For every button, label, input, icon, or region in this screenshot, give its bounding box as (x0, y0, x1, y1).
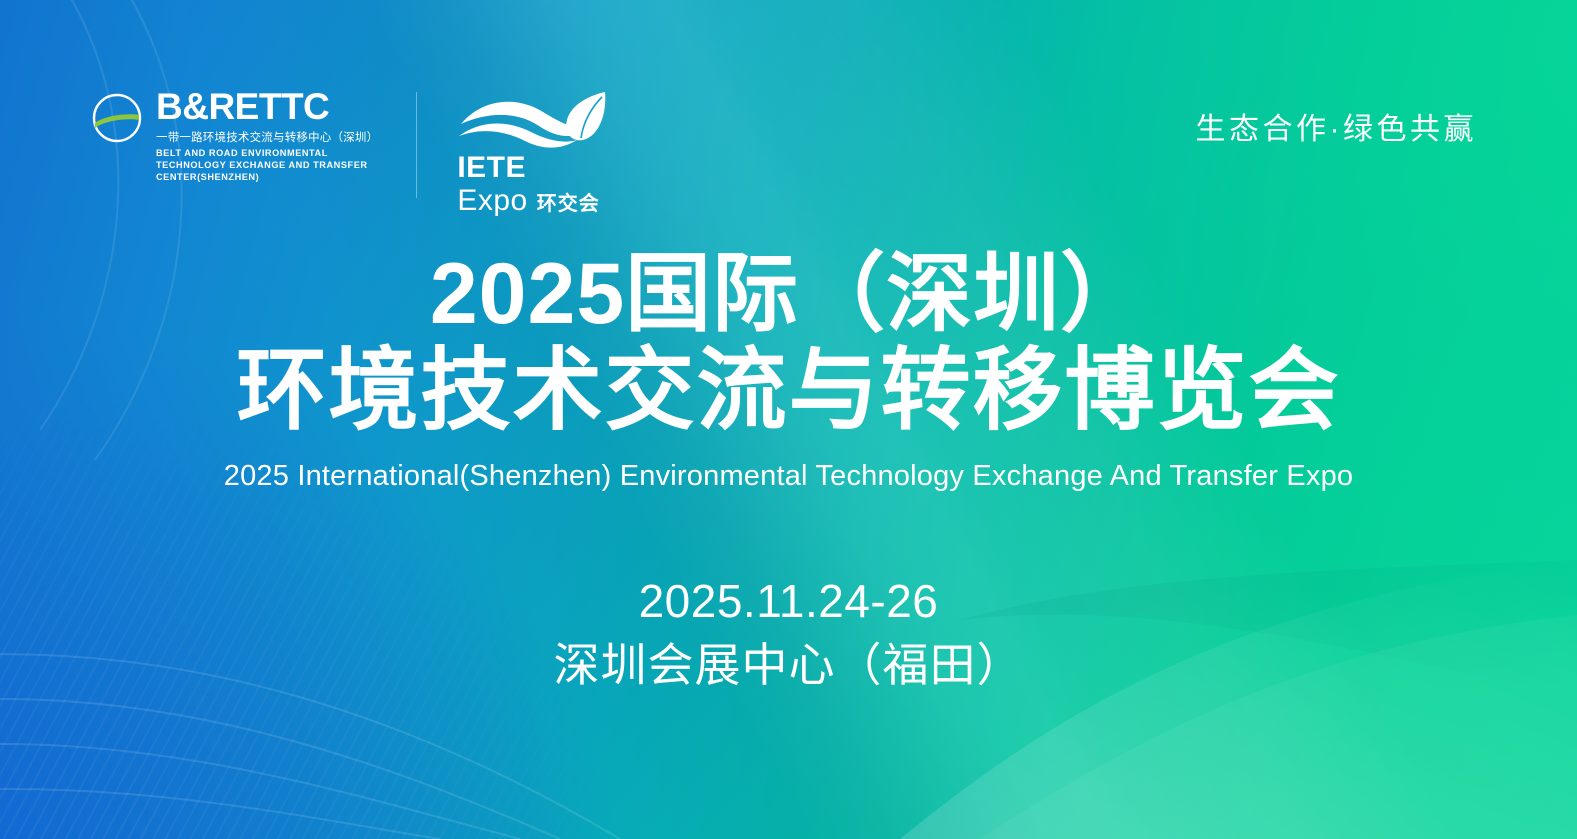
event-date: 2025.11.24-26 (0, 573, 1577, 631)
title-line-1: 2025国际（深圳） (0, 250, 1577, 339)
iete-expo-logo: IETE Expo 环交会 (455, 88, 610, 216)
title-line-2: 环境技术交流与转移博览会 (0, 341, 1577, 442)
iete-text-block: IETE Expo 环交会 (455, 153, 610, 216)
brettc-logo: B&RETTC 一带一路环境技术交流与转移中心（深圳） BELT AND ROA… (88, 88, 378, 183)
logo-divider (416, 92, 417, 198)
brettc-english-line-1: BELT AND ROAD ENVIRONMENTAL (156, 147, 378, 159)
banner-header: B&RETTC 一带一路环境技术交流与转移中心（深圳） BELT AND ROA… (0, 0, 1577, 210)
wave-leaf-icon (455, 90, 610, 157)
iete-expo-word: Expo (457, 185, 527, 217)
iete-wordmark: IETE (457, 153, 610, 184)
brettc-english-line-2: TECHNOLOGY EXCHANGE AND TRANSFER (156, 159, 378, 171)
globe-circle-icon (88, 92, 146, 149)
iete-subline: Expo 环交会 (457, 185, 610, 217)
iete-chinese-short: 环交会 (537, 187, 600, 216)
banner-main-content: 2025国际（深圳） 环境技术交流与转移博览会 2025 Internation… (0, 250, 1577, 694)
brettc-english-line-3: CENTER(SHENZHEN) (156, 171, 378, 183)
english-subtitle: 2025 International(Shenzhen) Environment… (0, 460, 1577, 493)
event-banner: B&RETTC 一带一路环境技术交流与转移中心（深圳） BELT AND ROA… (0, 0, 1577, 839)
event-info: 2025.11.24-26 深圳会展中心（福田） (0, 573, 1577, 694)
brettc-wordmark: B&RETTC (156, 88, 378, 125)
logo-group: B&RETTC 一带一路环境技术交流与转移中心（深圳） BELT AND ROA… (88, 88, 610, 216)
brettc-chinese-name: 一带一路环境技术交流与转移中心（深圳） (156, 129, 378, 145)
brettc-text-block: B&RETTC 一带一路环境技术交流与转移中心（深圳） BELT AND ROA… (156, 88, 378, 183)
banner-tagline: 生态合作·绿色共赢 (1196, 104, 1478, 148)
event-venue: 深圳会展中心（福田） (0, 637, 1577, 695)
brettc-english-block: BELT AND ROAD ENVIRONMENTAL TECHNOLOGY E… (156, 147, 378, 183)
